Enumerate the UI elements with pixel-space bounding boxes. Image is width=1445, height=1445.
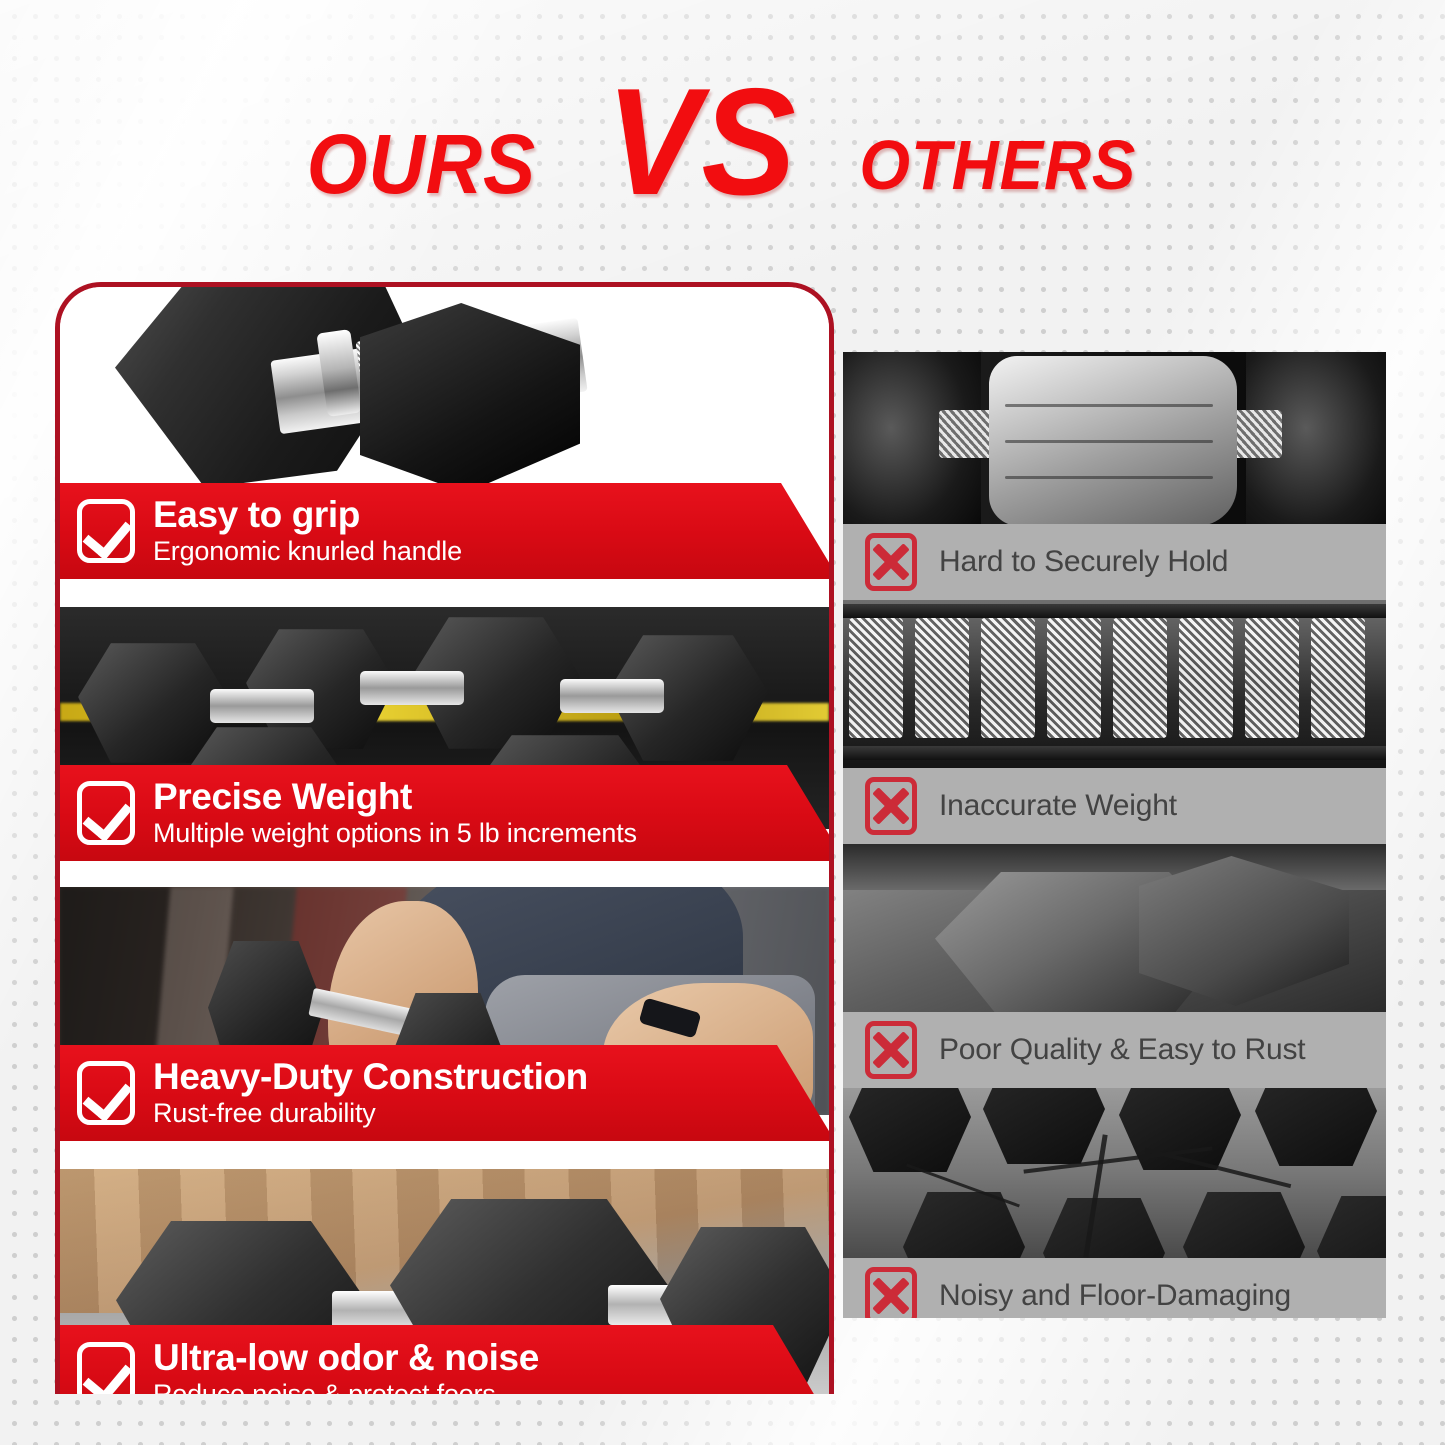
rack-shelf — [843, 746, 1386, 760]
others-feature-1: Hard to Securely Hold — [843, 352, 1386, 600]
check-icon — [77, 499, 135, 563]
x-icon — [865, 533, 917, 591]
ours-panel: Easy to grip Ergonomic knurled handle Pr… — [55, 282, 834, 1394]
ours-feature-2: Precise Weight Multiple weight options i… — [55, 765, 834, 861]
chrome-dumbbell — [915, 618, 969, 738]
ours-feature-3-subtitle: Rust-free durability — [153, 1098, 588, 1128]
ours-feature-4: Ultra-low odor & noise Reduce noise & pr… — [55, 1325, 834, 1394]
others-feature-4: Noisy and Floor-Damaging — [843, 1088, 1386, 1318]
finger-line — [1005, 404, 1213, 407]
others-photo-2 — [843, 600, 1386, 768]
chrome-dumbbell — [981, 618, 1035, 738]
chrome-dumbbell — [1245, 618, 1299, 738]
x-icon — [865, 1021, 917, 1079]
ours-feature-3-title: Heavy-Duty Construction — [153, 1058, 588, 1096]
floor-tile — [1255, 1088, 1377, 1166]
comparison-header: OURS VS OTHERS — [0, 62, 1445, 212]
rack-handle — [560, 679, 664, 713]
chrome-dumbbell — [1047, 618, 1101, 738]
header-ours-label: OURS — [307, 122, 536, 206]
finger-line — [1005, 476, 1213, 479]
others-feature-3-label-band: Poor Quality & Easy to Rust — [843, 1012, 1386, 1088]
check-icon — [77, 781, 135, 845]
others-feature-4-label: Noisy and Floor-Damaging — [939, 1279, 1291, 1313]
ours-feature-2-title: Precise Weight — [153, 778, 637, 816]
chrome-dumbbell — [1311, 618, 1365, 738]
chrome-dumbbell — [1113, 618, 1167, 738]
others-feature-2-label-band: Inaccurate Weight — [843, 768, 1386, 844]
chrome-dumbbell — [1179, 618, 1233, 738]
others-photo-1 — [843, 352, 1386, 524]
others-feature-3-label: Poor Quality & Easy to Rust — [939, 1033, 1305, 1067]
x-icon — [865, 777, 917, 835]
others-feature-3: Poor Quality & Easy to Rust — [843, 844, 1386, 1088]
others-panel: Hard to Securely Hold Inaccurate Weight — [843, 352, 1386, 1318]
x-icon — [865, 1267, 917, 1318]
others-feature-2: Inaccurate Weight — [843, 600, 1386, 844]
chrome-dumbbell — [849, 618, 903, 738]
others-feature-4-label-band: Noisy and Floor-Damaging — [843, 1258, 1386, 1318]
ours-feature-2-subtitle: Multiple weight options in 5 lb incremen… — [153, 818, 637, 848]
finger-line — [1005, 440, 1213, 443]
floor-tile — [1317, 1196, 1386, 1258]
check-icon — [77, 1061, 135, 1125]
ours-feature-1-subtitle: Ergonomic knurled handle — [153, 536, 462, 566]
ours-feature-4-title: Ultra-low odor & noise — [153, 1339, 539, 1377]
floor-tile — [1183, 1192, 1305, 1258]
ours-feature-4-subtitle: Reduce noise & protect foors — [153, 1379, 539, 1394]
others-photo-3 — [843, 844, 1386, 1012]
others-photo-4 — [843, 1088, 1386, 1258]
floor-tile — [849, 1088, 971, 1172]
ours-feature-1: Easy to grip Ergonomic knurled handle — [55, 483, 834, 579]
rack-handle — [210, 689, 314, 723]
rack-handle — [360, 671, 464, 705]
others-feature-1-label-band: Hard to Securely Hold — [843, 524, 1386, 600]
rack-shelf — [843, 604, 1386, 618]
ours-feature-1-title: Easy to grip — [153, 496, 462, 534]
check-icon — [77, 1342, 135, 1394]
others-feature-1-label: Hard to Securely Hold — [939, 545, 1228, 579]
floor-tile — [1043, 1198, 1165, 1258]
header-vs-label: VS — [606, 66, 796, 218]
floor-tile — [983, 1088, 1105, 1164]
header-others-label: OTHERS — [860, 130, 1137, 200]
ours-feature-3: Heavy-Duty Construction Rust-free durabi… — [55, 1045, 834, 1141]
others-feature-2-label: Inaccurate Weight — [939, 789, 1177, 823]
